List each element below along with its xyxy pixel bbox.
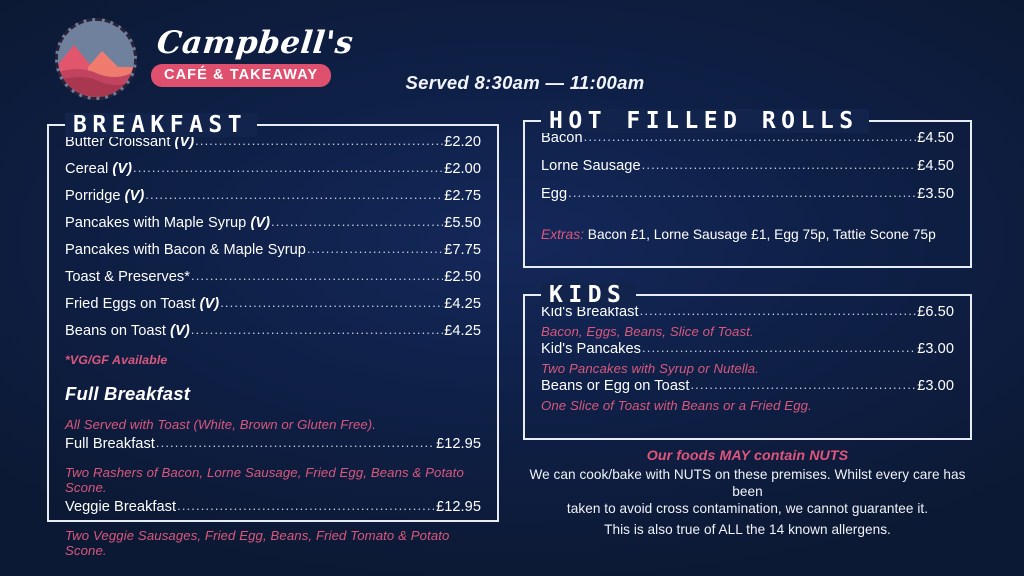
menu-item-name: Cereal (V) — [65, 161, 132, 177]
menu-item-tag: (V) — [250, 215, 270, 231]
dot-leader: ........................................… — [177, 498, 435, 513]
breakfast-panel: BREAKFAST Butter Croissant (V)..........… — [47, 124, 499, 522]
menu-item-price: £3.00 — [917, 341, 954, 357]
dot-leader: ........................................… — [568, 185, 916, 200]
menu-item-price: £3.50 — [917, 186, 954, 202]
breakfast-row: Fried Eggs on Toast (V).................… — [65, 296, 481, 323]
breakfast-row: Cereal (V)..............................… — [65, 161, 481, 188]
dot-leader: ........................................… — [690, 377, 916, 392]
menu-item-name: Lorne Sausage — [541, 158, 641, 174]
kids-panel: KIDS Kid's Breakfast....................… — [523, 294, 972, 440]
allergen-line-1: We can cook/bake with NUTS on these prem… — [523, 466, 972, 500]
brand-badge: CAFÉ & TAKEAWAY — [151, 64, 331, 87]
brand-logo: Campbell's CAFÉ & TAKEAWAY — [55, 18, 353, 100]
breakfast-vg-note: *VG/GF Available — [65, 353, 481, 367]
breakfast-row: Pancakes with Bacon & Maple Syrup.......… — [65, 242, 481, 269]
menu-item-price: £5.50 — [444, 215, 481, 231]
full-breakfast-row: Full Breakfast..........................… — [65, 436, 481, 462]
menu-item-price: £2.00 — [444, 161, 481, 177]
kids-row: Kid's Pancakes..........................… — [541, 341, 954, 361]
menu-item-price: £2.20 — [444, 134, 481, 150]
allergen-line-2: taken to avoid cross contamination, we c… — [523, 500, 972, 517]
menu-board: Campbell's CAFÉ & TAKEAWAY Served 8:30am… — [0, 0, 1024, 576]
menu-item-name: Beans on Toast (V) — [65, 323, 190, 339]
menu-item-price: £12.95 — [436, 499, 481, 515]
full-breakfast-description: Two Veggie Sausages, Fried Egg, Beans, F… — [65, 528, 481, 558]
menu-item-name: Fried Eggs on Toast (V) — [65, 296, 219, 312]
hot-filled-rolls-items: Bacon...................................… — [525, 130, 970, 214]
breakfast-row: Butter Croissant (V)....................… — [65, 134, 481, 161]
dot-leader: ........................................… — [307, 241, 443, 256]
menu-item-price: £6.50 — [917, 304, 954, 320]
rolls-extras-line: Extras: Bacon £1, Lorne Sausage £1, Egg … — [541, 227, 954, 242]
menu-item-tag: (V) — [112, 161, 132, 177]
allergen-heading: Our foods MAY contain NUTS — [523, 448, 972, 464]
dot-leader: ........................................… — [133, 160, 443, 175]
menu-item-price: £7.75 — [444, 242, 481, 258]
rolls-extras-label: Extras: — [541, 227, 584, 242]
menu-item-price: £2.75 — [444, 188, 481, 204]
brand-wordmark: Campbell's CAFÉ & TAKEAWAY — [151, 28, 353, 87]
full-breakfast-items: Full Breakfast..........................… — [65, 436, 481, 558]
menu-item-name: Beans or Egg on Toast — [541, 378, 689, 394]
breakfast-row: Porridge (V)............................… — [65, 188, 481, 215]
rolls-row: Egg.....................................… — [541, 186, 954, 214]
menu-item-tag: (V) — [200, 296, 220, 312]
full-breakfast-row: Veggie Breakfast........................… — [65, 499, 481, 525]
dot-leader: ........................................… — [584, 129, 917, 144]
dot-leader: ........................................… — [640, 303, 917, 318]
dot-leader: ........................................… — [156, 435, 435, 450]
allergen-notice: Our foods MAY contain NUTS We can cook/b… — [523, 448, 972, 538]
menu-item-name: Full Breakfast — [65, 436, 155, 452]
menu-item-tag: (V) — [125, 188, 145, 204]
full-breakfast-heading: Full Breakfast — [65, 383, 481, 405]
breakfast-items: Butter Croissant (V)....................… — [49, 134, 497, 350]
served-times: Served 8:30am — 11:00am — [330, 72, 720, 94]
breakfast-row: Pancakes with Maple Syrup (V)...........… — [65, 215, 481, 242]
dot-leader: ........................................… — [195, 133, 443, 148]
full-breakfast-subtitle: All Served with Toast (White, Brown or G… — [65, 417, 481, 432]
menu-item-price: £4.50 — [917, 158, 954, 174]
dot-leader: ........................................… — [220, 295, 443, 310]
logo-mountains-svg — [58, 21, 134, 97]
full-breakfast-description: Two Rashers of Bacon, Lorne Sausage, Fri… — [65, 465, 481, 495]
menu-item-price: £12.95 — [436, 436, 481, 452]
kids-item-description: Two Pancakes with Syrup or Nutella. — [541, 361, 954, 376]
kids-item-description: One Slice of Toast with Beans or a Fried… — [541, 398, 954, 413]
breakfast-row: Toast & Preserves*......................… — [65, 269, 481, 296]
allergen-line-3: This is also true of ALL the 14 known al… — [523, 521, 972, 538]
menu-item-name: Kid's Pancakes — [541, 341, 641, 357]
mountain-circle-logo-icon — [55, 18, 137, 100]
dot-leader: ........................................… — [271, 214, 443, 229]
breakfast-row: Beans on Toast (V)......................… — [65, 323, 481, 350]
rolls-row: Bacon...................................… — [541, 130, 954, 158]
dot-leader: ........................................… — [191, 322, 443, 337]
menu-item-name: Porridge (V) — [65, 188, 144, 204]
menu-item-name: Pancakes with Bacon & Maple Syrup — [65, 242, 306, 258]
menu-item-tag: (V) — [170, 323, 190, 339]
menu-item-price: £4.25 — [444, 296, 481, 312]
kids-item-description: Bacon, Eggs, Beans, Slice of Toast. — [541, 324, 954, 339]
menu-item-name: Toast & Preserves* — [65, 269, 190, 285]
rolls-extras-text: Bacon £1, Lorne Sausage £1, Egg 75p, Tat… — [584, 227, 936, 242]
menu-item-price: £2.50 — [444, 269, 481, 285]
menu-item-price: £4.25 — [444, 323, 481, 339]
dot-leader: ........................................… — [145, 187, 443, 202]
kids-items: Kid's Breakfast.........................… — [525, 304, 970, 413]
dot-leader: ........................................… — [191, 268, 443, 283]
brand-name: Campbell's — [155, 28, 354, 59]
menu-item-name: Veggie Breakfast — [65, 499, 176, 515]
dot-leader: ........................................… — [642, 157, 917, 172]
menu-header: Campbell's CAFÉ & TAKEAWAY Served 8:30am… — [0, 0, 1024, 110]
dot-leader: ........................................… — [642, 340, 916, 355]
kids-panel-title: KIDS — [541, 283, 636, 307]
kids-row: Beans or Egg on Toast...................… — [541, 378, 954, 398]
menu-item-name: Egg — [541, 186, 567, 202]
rolls-row: Lorne Sausage...........................… — [541, 158, 954, 186]
menu-item-price: £3.00 — [917, 378, 954, 394]
menu-item-price: £4.50 — [917, 130, 954, 146]
menu-item-name: Pancakes with Maple Syrup (V) — [65, 215, 270, 231]
hot-filled-rolls-panel: HOT FILLED ROLLS Bacon..................… — [523, 120, 972, 268]
